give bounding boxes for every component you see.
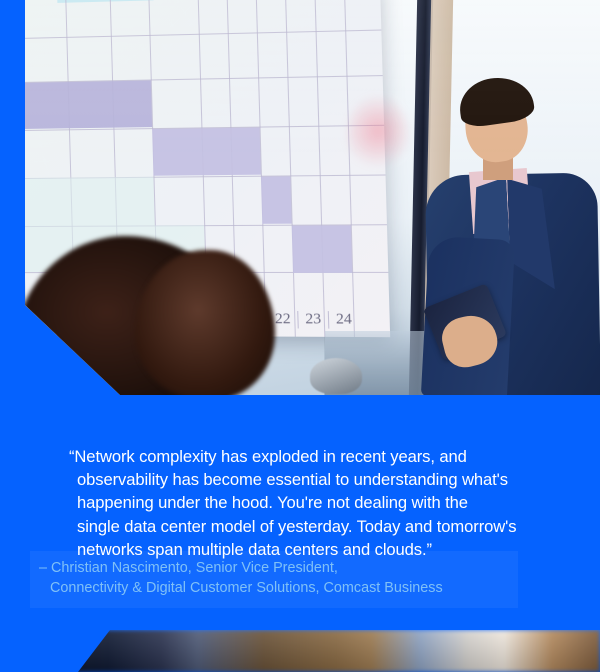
gantt-bar: [152, 128, 203, 175]
attribution-line: – Christian Nascimento, Senior Vice Pres…: [39, 559, 509, 579]
quote-card: 20 21 22 23 24: [0, 0, 600, 672]
gantt-bar: [261, 176, 292, 223]
gantt-bar: [25, 80, 152, 129]
bottom-image-strip: [0, 630, 600, 672]
quote-line: observability has become essential to un…: [77, 468, 597, 491]
axis-tick-label: 23: [297, 310, 328, 328]
quote-section: “Network complexity has exploded in rece…: [0, 395, 600, 635]
bottom-photo-overlay: [0, 630, 600, 672]
presenter-person: [421, 78, 600, 395]
quote-line: “Network complexity has exploded in rece…: [69, 445, 597, 468]
quote-text: “Network complexity has exploded in rece…: [77, 445, 597, 562]
quote-line: single data center model of yesterday. T…: [77, 515, 597, 538]
quote-attribution: – Christian Nascimento, Senior Vice Pres…: [30, 551, 518, 608]
hero-image: 20 21 22 23 24: [25, 0, 600, 395]
projector-device: [310, 358, 362, 394]
attribution-line: Connectivity & Digital Customer Solution…: [39, 579, 509, 599]
wall-logo-smudge: [347, 95, 409, 175]
gantt-bar: [201, 128, 260, 176]
axis-tick-label: 24: [328, 311, 359, 329]
gantt-bar: [292, 225, 352, 273]
quote-line: happening under the hood. You're not dea…: [77, 491, 597, 514]
